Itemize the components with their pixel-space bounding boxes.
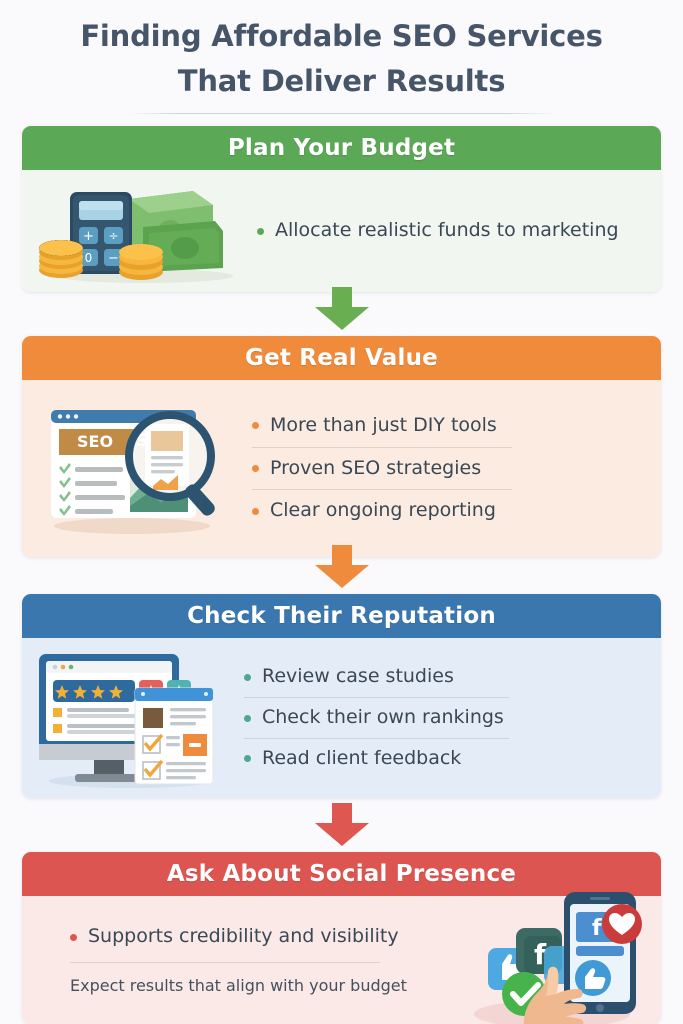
bullet-text: Proven SEO strategies [270, 457, 481, 481]
svg-text:f: f [592, 916, 602, 941]
svg-text:÷: ÷ [108, 229, 118, 243]
bullet-dot-icon [252, 422, 259, 429]
section-body-social: Supports credibility and visibility Expe… [22, 896, 661, 1024]
bullet-dot-icon [244, 715, 251, 722]
seo-banner-label: SEO [77, 432, 113, 451]
section-header-budget: Plan Your Budget [22, 126, 661, 170]
illustration-hand-phone-social: f f [443, 888, 661, 1024]
svg-text:+: + [83, 229, 94, 244]
bullet-text: Clear ongoing reporting [270, 499, 496, 523]
section-card-value: Get Real Value SEO [22, 336, 661, 557]
bullet-list-value: More than just DIY tools Proven SEO stra… [252, 405, 661, 532]
svg-text:0: 0 [85, 251, 93, 265]
arrow-1-down-icon [306, 287, 378, 336]
bullet-list-budget: Allocate realistic funds to marketing [257, 219, 661, 243]
arrow-3-down-icon [306, 803, 378, 852]
bullet-dot-icon [257, 228, 264, 235]
page-title: Finding Affordable SEO Services That Del… [0, 0, 683, 114]
section-body-budget: + ÷ 0 − [22, 170, 661, 292]
bullet-text: Allocate realistic funds to marketing [275, 219, 619, 243]
section-card-reputation: Check Their Reputation [22, 594, 661, 798]
list-item: Check their own rankings [244, 698, 661, 738]
title-divider [128, 113, 556, 114]
bullet-dot-icon [252, 508, 259, 515]
section-heading-text: Ask About Social Presence [167, 861, 516, 887]
section-card-social: Ask About Social Presence Supports credi… [22, 852, 661, 1024]
title-line-2: That Deliver Results [0, 59, 683, 104]
section-footnote: Expect results that align with your budg… [70, 976, 443, 995]
bullet-text: More than just DIY tools [270, 414, 497, 438]
section-card-budget: Plan Your Budget [22, 126, 661, 292]
section-body-reputation: Review case studies Check their own rank… [22, 638, 661, 798]
list-item: Supports credibility and visibility [70, 925, 443, 949]
list-item: Review case studies [244, 657, 661, 697]
infographic-page: Finding Affordable SEO Services That Del… [0, 0, 683, 1024]
section-header-reputation: Check Their Reputation [22, 594, 661, 638]
bullet-text: Review case studies [262, 665, 454, 689]
arrow-2-down-icon [306, 545, 378, 594]
list-item: More than just DIY tools [252, 405, 661, 447]
section-body-value: SEO [22, 380, 661, 557]
bullet-dot-icon [252, 465, 259, 472]
bullet-text: Check their own rankings [262, 706, 504, 730]
illustration-calculator-money: + ÷ 0 − [22, 175, 257, 287]
section-heading-text: Plan Your Budget [228, 135, 455, 161]
list-item: Clear ongoing reporting [252, 490, 661, 532]
section-heading-text: Get Real Value [245, 345, 438, 371]
bullet-separator [70, 962, 380, 963]
list-item: Proven SEO strategies [252, 448, 661, 490]
bullet-text: Supports credibility and visibility [88, 925, 399, 949]
illustration-monitor-reviews [22, 644, 244, 792]
list-item: Allocate realistic funds to marketing [257, 219, 647, 243]
bullet-dot-icon [244, 674, 251, 681]
bullet-dot-icon [70, 934, 77, 941]
svg-text:−: − [108, 251, 119, 266]
bullet-list-social: Supports credibility and visibility Expe… [22, 925, 443, 995]
bullet-list-reputation: Review case studies Check their own rank… [244, 657, 661, 778]
illustration-seo-magnifier: SEO [22, 398, 252, 540]
bullet-dot-icon [244, 755, 251, 762]
section-header-value: Get Real Value [22, 336, 661, 380]
list-item: Read client feedback [244, 739, 661, 779]
bullet-text: Read client feedback [262, 747, 461, 771]
title-line-1: Finding Affordable SEO Services [0, 14, 683, 59]
section-heading-text: Check Their Reputation [187, 603, 496, 629]
